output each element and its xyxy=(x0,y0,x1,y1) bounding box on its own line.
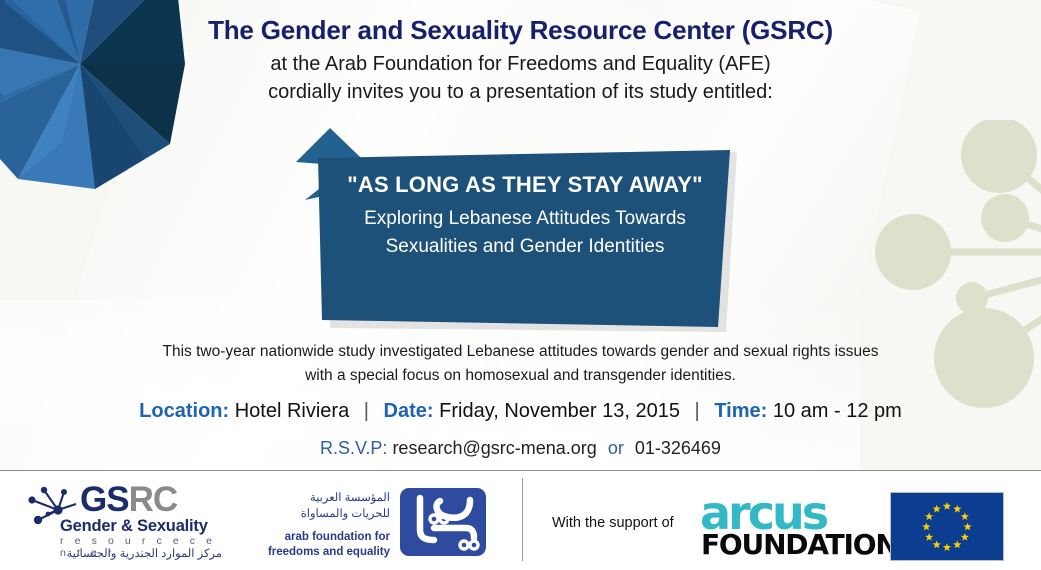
date-value: Friday, November 13, 2015 xyxy=(439,400,680,422)
invitation-flyer: The Gender and Sexuality Resource Center… xyxy=(0,0,1041,570)
description-line-2: with a special focus on homosexual and t… xyxy=(0,364,1041,388)
arcus-foundation-word: FOUNDATION xyxy=(701,528,898,561)
gsrc-tagline: Gender & Sexuality xyxy=(60,517,208,536)
time-label: Time: xyxy=(714,400,767,422)
rsvp-label: R.S.V.P: xyxy=(320,438,387,458)
afe-glyph-icon xyxy=(400,488,486,556)
afe-english-block: arab foundation for freedoms and equalit… xyxy=(262,530,390,561)
afe-logo: المؤسسة العربية للحريات والمساواة arab f… xyxy=(262,488,492,560)
study-title: "AS LONG AS THEY STAY AWAY" xyxy=(336,172,714,198)
afe-english-line-1: arab foundation for xyxy=(262,530,390,546)
afe-logo-text: المؤسسة العربية للحريات والمساواة arab f… xyxy=(262,490,390,561)
gsrc-logo: GSRC Gender & Sexuality r e s o u r c e … xyxy=(22,484,222,562)
description-line-1: This two-year nationwide study investiga… xyxy=(0,340,1041,364)
study-subtitle-line-1: Exploring Lebanese Attitudes Towards xyxy=(336,205,714,233)
page-title: The Gender and Sexuality Resource Center… xyxy=(0,14,1041,47)
arcus-foundation-logo: arcus FOUNDATION xyxy=(700,492,868,558)
callout-text: "AS LONG AS THEY STAY AWAY" Exploring Le… xyxy=(336,172,714,260)
afe-arabic-mark-icon xyxy=(400,488,486,556)
location-value: Hotel Riviera xyxy=(235,400,349,422)
description-block: This two-year nationwide study investiga… xyxy=(0,340,1041,388)
eu-flag-logo xyxy=(890,492,1004,561)
detail-separator: | xyxy=(355,400,378,422)
rsvp-or: or xyxy=(602,438,630,458)
gsrc-acronym-dark: GS xyxy=(80,480,129,519)
header-block: The Gender and Sexuality Resource Center… xyxy=(0,14,1041,106)
gsrc-acronym-light: RC xyxy=(129,480,178,519)
afe-english-line-2: freedoms and equality xyxy=(262,545,390,561)
afe-arabic-line-1: المؤسسة العربية xyxy=(262,490,390,506)
event-details: Location: Hotel Riviera | Date: Friday, … xyxy=(0,400,1041,423)
gsrc-acronym: GSRC xyxy=(80,480,177,520)
study-subtitle-line-2: Sexualities and Gender Identities xyxy=(336,233,714,261)
time-value: 10 am - 12 pm xyxy=(773,400,902,422)
date-label: Date: xyxy=(384,400,434,422)
afe-arabic-line-2: للحريات والمساواة xyxy=(262,506,390,522)
eu-stars-icon xyxy=(891,493,1003,561)
rsvp-phone[interactable]: 01-326469 xyxy=(635,438,721,458)
location-label: Location: xyxy=(139,400,229,422)
support-text: With the support of xyxy=(552,515,674,531)
rsvp-line: R.S.V.P: research@gsrc-mena.org or 01-32… xyxy=(0,438,1041,459)
rsvp-email[interactable]: research@gsrc-mena.org xyxy=(392,438,596,458)
header-subtitle-1: at the Arab Foundation for Freedoms and … xyxy=(0,50,1041,78)
header-subtitle-2: cordially invites you to a presentation … xyxy=(0,78,1041,106)
footer-divider-vertical xyxy=(522,478,523,561)
detail-separator: | xyxy=(686,400,709,422)
gsrc-arabic-tagline: مركز الموارد الجندرية والجنسانية xyxy=(50,546,222,560)
